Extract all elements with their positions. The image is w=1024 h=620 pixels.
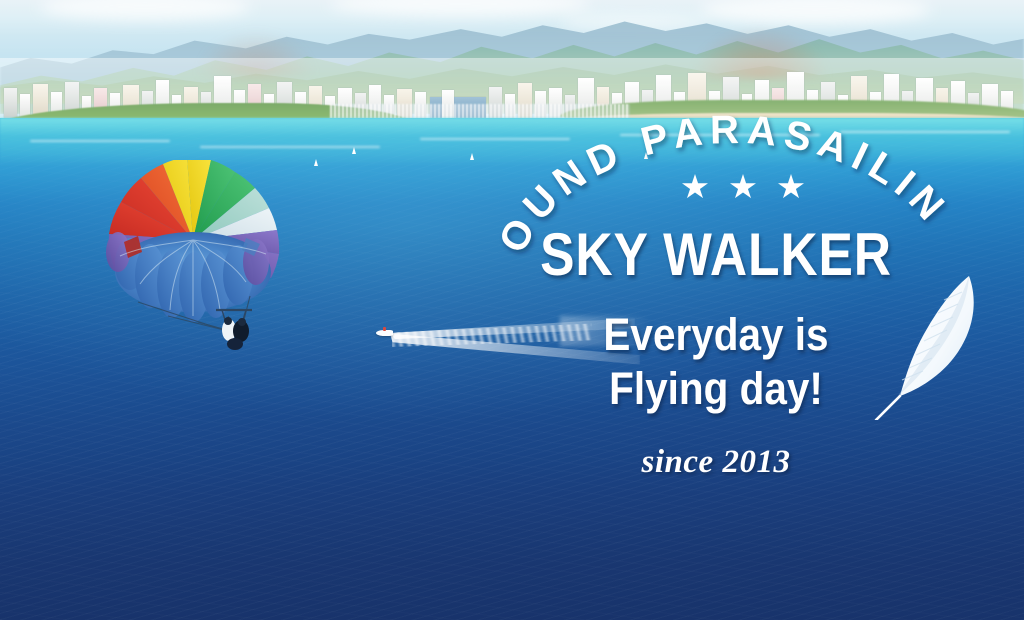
star-rating-group bbox=[682, 174, 804, 200]
tagline-line-1: Everyday is bbox=[527, 308, 905, 362]
surf-line bbox=[30, 140, 170, 142]
speedboat-flag bbox=[383, 327, 386, 331]
star-icon bbox=[730, 174, 756, 200]
brand-title: SKY WALKER bbox=[535, 224, 896, 286]
sailboat bbox=[470, 153, 474, 160]
star-icon bbox=[778, 174, 804, 200]
parasail-riders bbox=[212, 300, 258, 352]
established-year: since 2013 bbox=[506, 444, 926, 481]
star-icon bbox=[682, 174, 708, 200]
sailboat bbox=[314, 159, 318, 166]
sailboat bbox=[352, 147, 356, 154]
feather-icon bbox=[866, 270, 986, 420]
parasailing-hero-banner: SOUND PARASAILING SKY WALKER Everyday is… bbox=[0, 0, 1024, 620]
tagline: Everyday is Flying day! bbox=[527, 308, 905, 416]
tagline-line-2: Flying day! bbox=[527, 362, 905, 416]
parasail-canopy bbox=[98, 160, 288, 350]
logo-lockup: SOUND PARASAILING SKY WALKER Everyday is… bbox=[506, 112, 1006, 512]
